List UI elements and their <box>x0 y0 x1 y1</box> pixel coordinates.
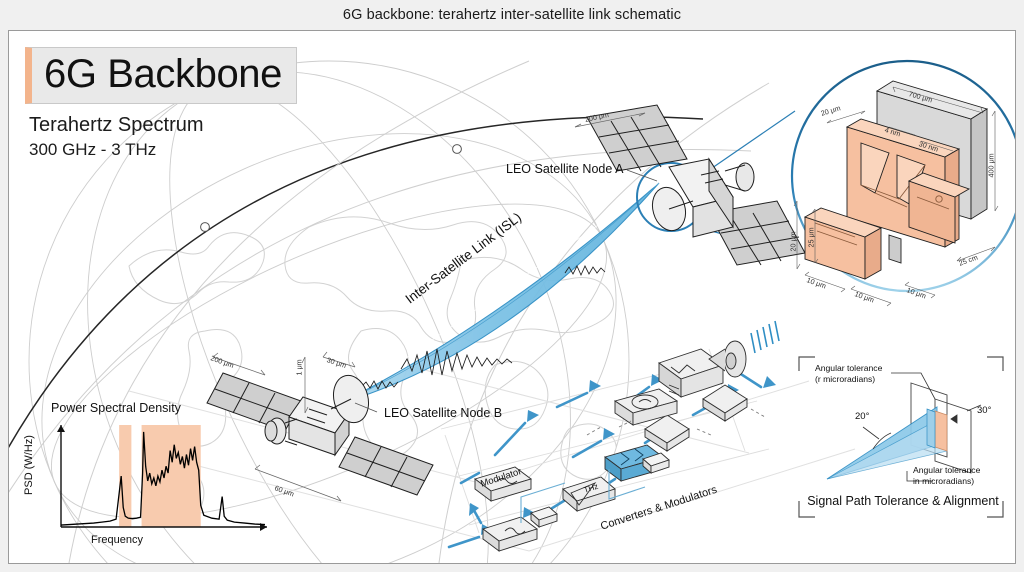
dim-inset-5: 20 μm <box>789 231 798 251</box>
figure-caption: 6G backbone: terahertz inter-satellite l… <box>0 0 1024 30</box>
label-node-b: LEO Satellite Node B <box>384 406 502 420</box>
dim-sat-b-2: 1 μm <box>295 359 304 375</box>
screenshot-root: 6G backbone: terahertz inter-satellite l… <box>0 0 1024 572</box>
dim-inset-4: 400 μm <box>987 153 996 177</box>
diagram-canvas: Power Spectral Density PSD (W/Hz) Freque… <box>8 30 1016 564</box>
dim-inset-6: 25 μm <box>807 227 816 247</box>
